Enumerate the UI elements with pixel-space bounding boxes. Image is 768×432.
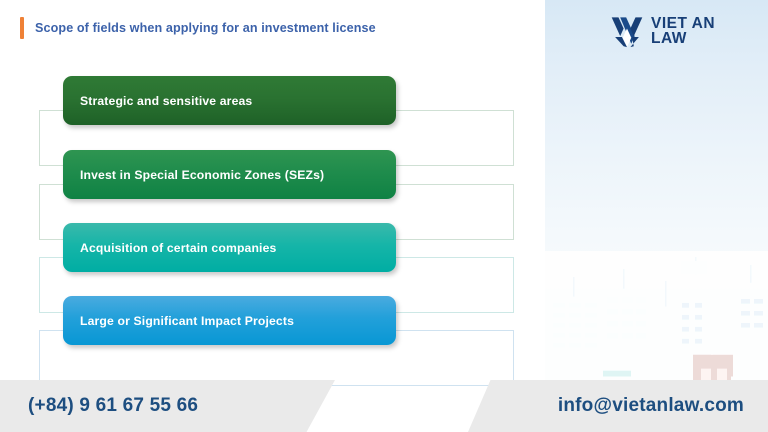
list-item[interactable]: Acquisition of certain companies [0, 213, 545, 287]
logo-line-1: VIET AN [651, 16, 715, 31]
item-label: Acquisition of certain companies [80, 241, 276, 255]
footer-email[interactable]: info@vietanlaw.com [558, 380, 744, 432]
list-item[interactable]: Invest in Special Economic Zones (SEZs) [0, 140, 545, 214]
item-pill[interactable]: Invest in Special Economic Zones (SEZs) [63, 150, 396, 199]
logo-wordmark: VIET AN LAW [651, 16, 715, 46]
item-list: Strategic and sensitive areas Invest in … [0, 0, 545, 432]
item-pill[interactable]: Acquisition of certain companies [63, 223, 396, 272]
item-pill[interactable]: Large or Significant Impact Projects [63, 296, 396, 345]
list-item[interactable]: Large or Significant Impact Projects [0, 286, 545, 360]
logo-mark-icon [610, 14, 644, 48]
logo: VIET AN LAW [610, 14, 715, 48]
footer: (+84) 9 61 67 55 66 info@vietanlaw.com [0, 380, 768, 432]
list-item[interactable]: Strategic and sensitive areas [0, 66, 545, 140]
item-label: Strategic and sensitive areas [80, 94, 252, 108]
item-label: Invest in Special Economic Zones (SEZs) [80, 168, 324, 182]
logo-line-2: LAW [651, 31, 715, 46]
footer-phone[interactable]: (+84) 9 61 67 55 66 [28, 380, 198, 432]
item-label: Large or Significant Impact Projects [80, 314, 294, 328]
cityscape-photo-panel [545, 0, 768, 432]
item-pill[interactable]: Strategic and sensitive areas [63, 76, 396, 125]
slide-canvas: VIET AN LAW Scope of fields when applyin… [0, 0, 768, 432]
